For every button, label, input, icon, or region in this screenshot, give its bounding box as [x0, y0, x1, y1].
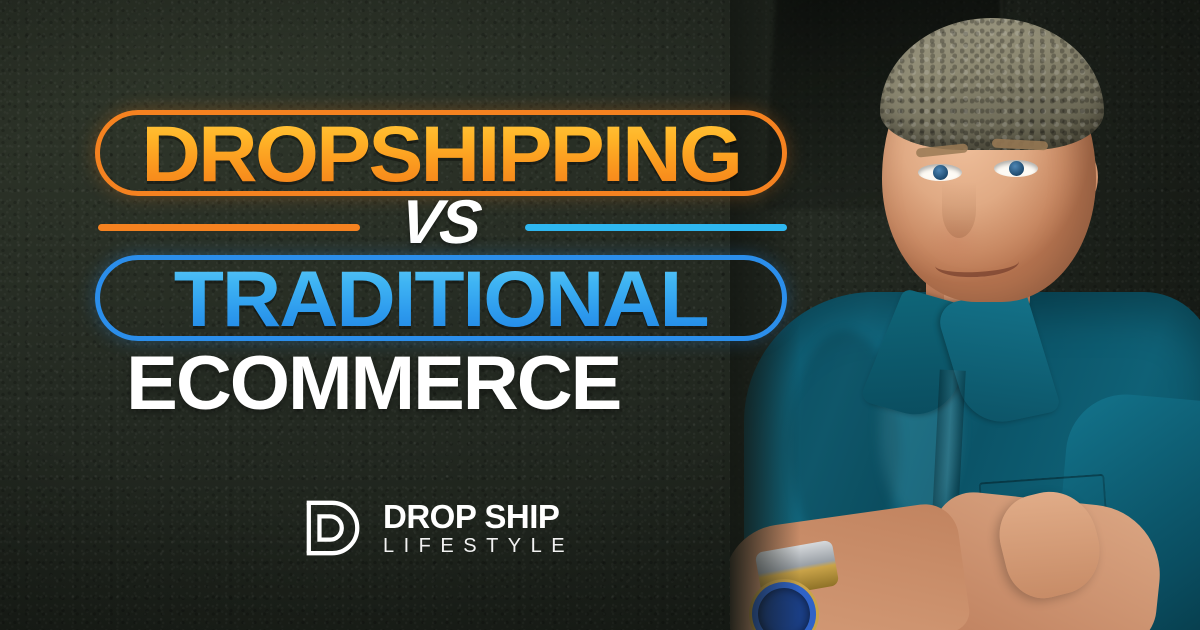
- hair-texture: [880, 18, 1104, 150]
- rule-left-orange: [98, 224, 360, 231]
- iris-right: [1009, 161, 1024, 176]
- headline-line-dropshipping: DROPSHIPPING: [142, 114, 741, 193]
- headline-line-ecommerce: ECOMMERCE: [126, 346, 620, 422]
- dropship-lifestyle-monogram-icon: [303, 497, 365, 559]
- brand-name-primary: DROP SHIP: [383, 500, 574, 533]
- headline-vs: VS: [387, 192, 494, 254]
- traditional-pill: TRADITIONAL: [95, 255, 787, 341]
- brand-name-secondary: LIFESTYLE: [383, 536, 574, 556]
- dropshipping-pill: DROPSHIPPING: [95, 110, 787, 196]
- brand-logo: DROP SHIP LIFESTYLE: [303, 497, 574, 559]
- nose: [942, 182, 976, 238]
- brand-logo-words: DROP SHIP LIFESTYLE: [383, 500, 574, 556]
- vs-row: VS: [95, 198, 787, 256]
- portrait-photo: [730, 0, 1200, 630]
- rule-right-blue: [525, 224, 787, 231]
- headline-line-traditional: TRADITIONAL: [174, 259, 708, 338]
- thumbnail-canvas: DROPSHIPPING VS TRADITIONAL ECOMMERCE DR…: [0, 0, 1200, 630]
- headline-block: DROPSHIPPING VS TRADITIONAL ECOMMERCE: [0, 0, 800, 470]
- iris-left: [933, 165, 948, 180]
